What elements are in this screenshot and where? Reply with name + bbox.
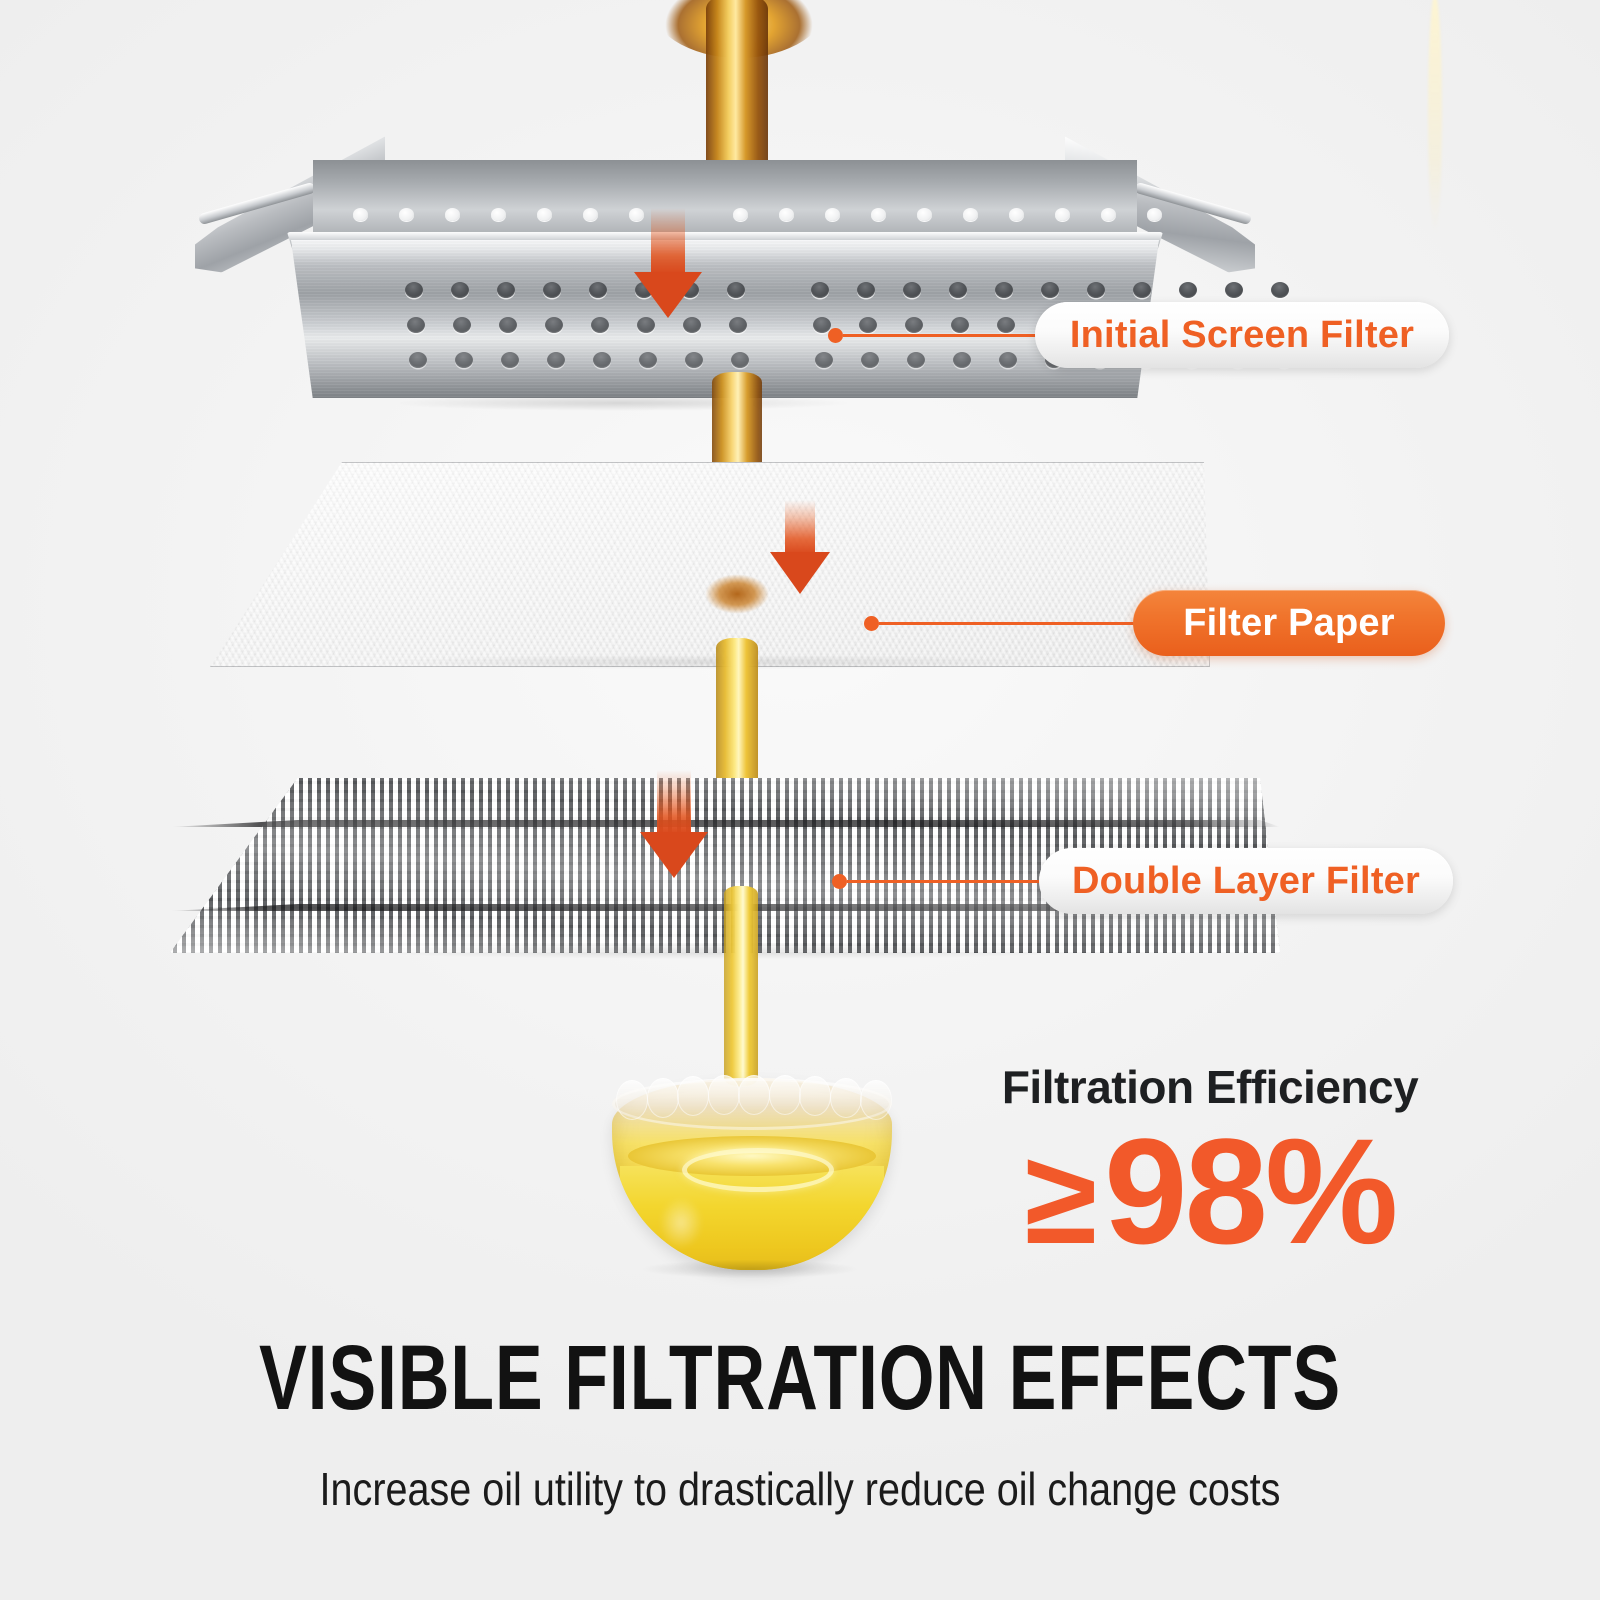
infographic-canvas: Initial Screen Filter Filter Paper Doubl… [0,0,1600,1600]
callout-anchor-dot [832,874,847,889]
callout-label-filter-paper[interactable]: Filter Paper [1133,590,1445,656]
callout-double-layer-filter[interactable]: Double Layer Filter [832,848,1453,914]
callout-anchor-dot [864,616,879,631]
bowl-oil-ripple-ring [682,1148,834,1192]
filtration-efficiency-block: Filtration Efficiency ≥98% [1000,1062,1420,1268]
bowl-scalloped-edge [612,1078,892,1132]
callout-label-double-layer-filter[interactable]: Double Layer Filter [1039,848,1453,914]
callout-anchor-dot [828,328,843,343]
oil-bowl [612,1062,892,1274]
initial-screen-filter-tray [195,140,1255,410]
callout-leader-line [879,622,1137,625]
callout-leader-line [843,334,1039,337]
efficiency-operator: ≥ [1025,1124,1094,1271]
footer-subheadline: Increase oil utility to drastically redu… [112,1462,1488,1517]
bowl-highlight [650,1186,712,1260]
bowl-drop-shadow [600,1256,900,1282]
tray-drop-shadow [300,392,940,414]
callout-label-initial-screen-filter[interactable]: Initial Screen Filter [1035,302,1449,368]
efficiency-label: Filtration Efficiency [1000,1062,1420,1113]
callout-initial-screen-filter[interactable]: Initial Screen Filter [828,302,1449,368]
tray-back-perforations [313,208,1137,224]
efficiency-value: ≥98% [1000,1115,1420,1268]
callout-leader-line [847,880,1043,883]
oil-stain-on-paper [694,566,780,622]
efficiency-number: 98% [1104,1107,1395,1275]
footer-headline: VISIBLE FILTRATION EFFECTS [176,1332,1424,1424]
mesh-drop-shadow [210,940,1240,962]
callout-filter-paper[interactable]: Filter Paper [864,590,1445,656]
